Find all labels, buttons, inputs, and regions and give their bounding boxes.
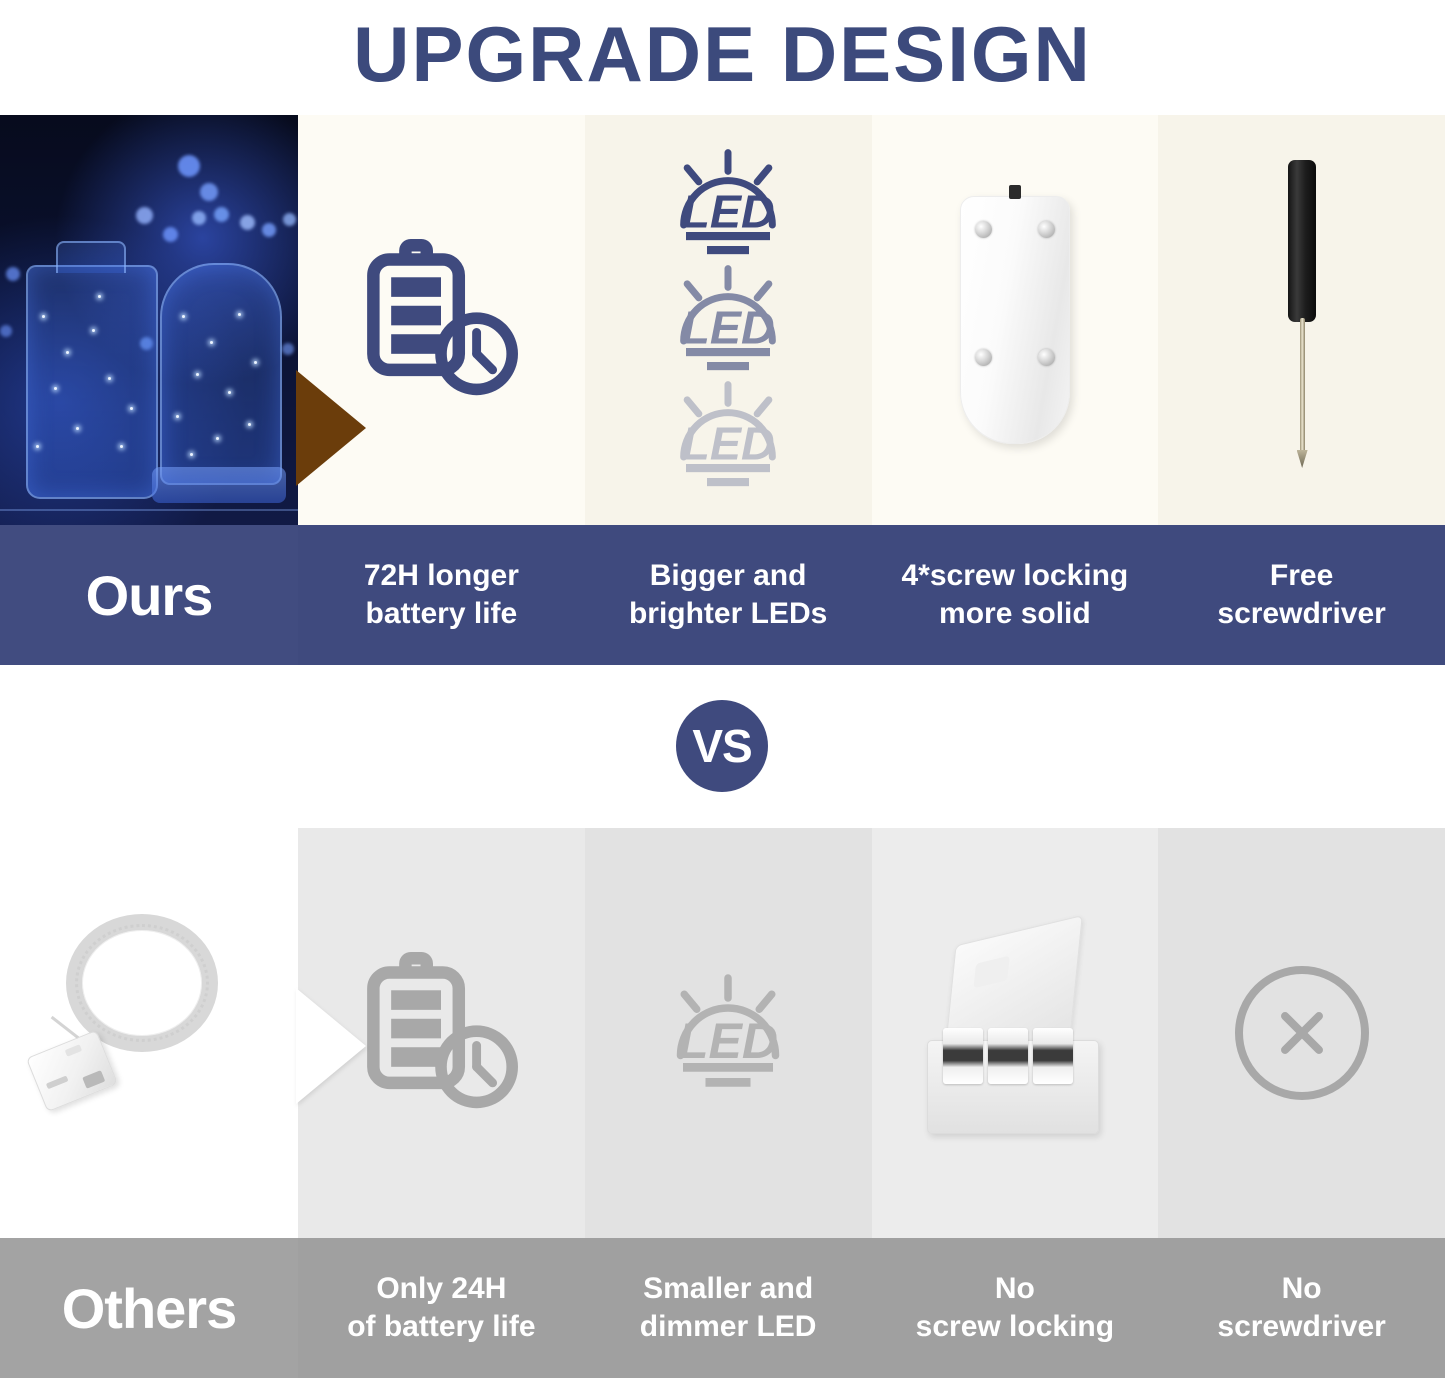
battery-clock-icon xyxy=(352,231,530,409)
label-line: dimmer LED xyxy=(640,1308,817,1346)
ours-label-leds: Bigger and brighter LEDs xyxy=(585,525,872,665)
battery-clock-icon xyxy=(352,944,530,1122)
others-comparison-block: LED xyxy=(0,828,1445,1378)
ours-arrow-icon xyxy=(296,370,366,486)
ours-label-battery: 72H longer battery life xyxy=(298,525,585,665)
others-row-label: Others xyxy=(0,1238,298,1378)
screwdriver-icon xyxy=(1274,160,1330,480)
label-line: Free xyxy=(1217,557,1385,595)
others-label-screwlock: No screw locking xyxy=(872,1238,1159,1378)
others-product-photo xyxy=(0,828,298,1238)
label-line: Smaller and xyxy=(640,1270,817,1308)
led-label-others: LED xyxy=(678,1013,778,1069)
label-line: Bigger and xyxy=(629,557,827,595)
ours-label-bar: Ours 72H longer battery life Bigger and … xyxy=(0,525,1445,665)
others-label-bar: Others Only 24H of battery life Smaller … xyxy=(0,1238,1445,1378)
ours-feature-cell-case xyxy=(872,115,1159,525)
ours-comparison-block: LED LED xyxy=(0,115,1445,665)
vs-badge: VS xyxy=(676,700,768,792)
ours-row-label: Ours xyxy=(0,525,298,665)
glass-jar-right xyxy=(160,263,282,485)
led-wire-coil xyxy=(66,914,218,1052)
others-icon-row: LED xyxy=(0,828,1445,1238)
led-bulb-stack-icon: LED LED xyxy=(658,148,798,492)
ours-product-photo xyxy=(0,115,298,525)
circle-x-icon xyxy=(1235,966,1369,1100)
led-label-2: LED xyxy=(681,301,774,353)
others-arrow-icon xyxy=(296,988,366,1104)
label-line: screw locking xyxy=(916,1308,1114,1346)
label-line: battery life xyxy=(364,595,519,633)
label-line: of battery life xyxy=(347,1308,535,1346)
label-line: No xyxy=(916,1270,1114,1308)
others-feature-cell-openbox xyxy=(872,828,1159,1238)
ours-feature-cell-leds: LED LED xyxy=(585,115,872,525)
others-label-led: Smaller and dimmer LED xyxy=(585,1238,872,1378)
led-label-3: LED xyxy=(681,417,774,469)
led-label-1: LED xyxy=(681,185,774,237)
page-title: UPGRADE DESIGN xyxy=(0,0,1445,108)
label-line: screwdriver xyxy=(1217,1308,1385,1346)
label-line: screwdriver xyxy=(1217,595,1385,633)
coiled-led-wire-image xyxy=(0,828,298,1238)
glass-jar-left xyxy=(26,265,158,499)
label-line: brighter LEDs xyxy=(629,595,827,633)
others-label-battery: Only 24H of battery life xyxy=(298,1238,585,1378)
label-line: 72H longer xyxy=(364,557,519,595)
ours-label-screwdriver: Free screwdriver xyxy=(1158,525,1445,665)
ours-icon-row: LED LED xyxy=(0,115,1445,525)
open-battery-box-icon xyxy=(915,928,1115,1138)
fairy-lights-jars-image xyxy=(0,115,298,525)
label-line: No xyxy=(1217,1270,1385,1308)
battery-case-screws-icon xyxy=(960,196,1070,444)
label-line: Only 24H xyxy=(347,1270,535,1308)
others-feature-cell-led: LED xyxy=(585,828,872,1238)
led-bulb-icon: LED xyxy=(653,973,803,1093)
comparison-infographic: UPGRADE DESIGN xyxy=(0,0,1445,1379)
others-label-screwdriver: No screwdriver xyxy=(1158,1238,1445,1378)
ours-feature-cell-screwdriver xyxy=(1158,115,1445,525)
ours-label-case: 4*screw locking more solid xyxy=(872,525,1159,665)
label-line: more solid xyxy=(901,595,1128,633)
others-feature-cell-nodriver xyxy=(1158,828,1445,1238)
label-line: 4*screw locking xyxy=(901,557,1128,595)
